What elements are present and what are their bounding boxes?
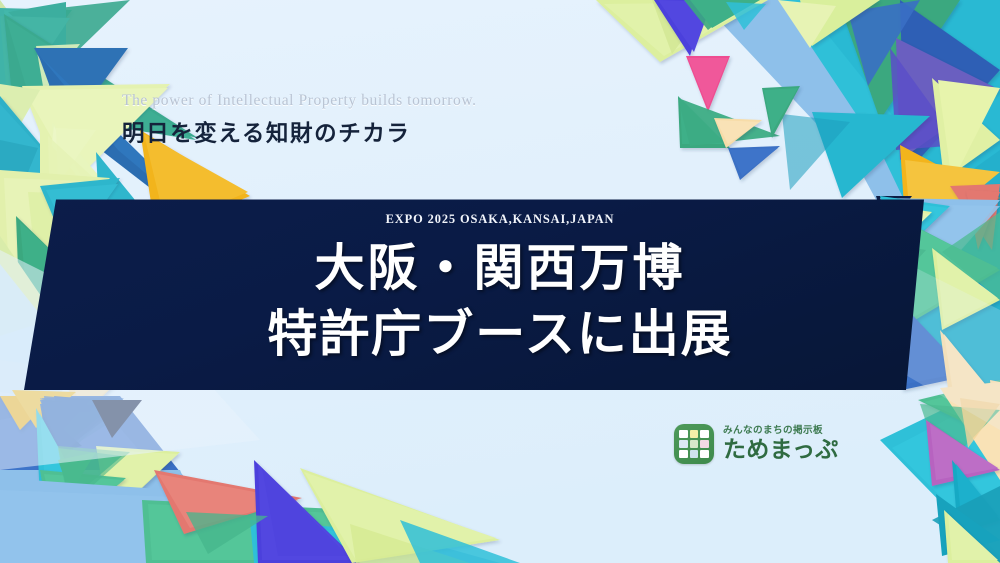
tamemap-logo[interactable]: みんなのまちの掲示板 ためまっぷ bbox=[674, 424, 839, 464]
tagline-english: The power of Intellectual Property build… bbox=[122, 92, 477, 110]
banner-graphic: The power of Intellectual Property build… bbox=[0, 0, 1000, 563]
tile-6 bbox=[700, 440, 709, 448]
headline-banner: EXPO 2025 OSAKA,KANSAI,JAPAN 大阪・関西万博 特許庁… bbox=[0, 190, 1000, 405]
tile-1 bbox=[679, 430, 688, 438]
tagline-block: The power of Intellectual Property build… bbox=[122, 92, 477, 148]
tile-4 bbox=[679, 440, 688, 448]
tile-8 bbox=[690, 450, 699, 458]
tile-7 bbox=[679, 450, 688, 458]
logo-name: ためまっぷ bbox=[723, 439, 839, 462]
banner-shape bbox=[0, 190, 1000, 405]
logo-subtitle: みんなのまちの掲示板 bbox=[723, 426, 839, 436]
tile-9 bbox=[700, 450, 709, 458]
tile-2 bbox=[690, 430, 699, 438]
bulletin-board-icon bbox=[674, 424, 714, 464]
tagline-japanese: 明日を変える知財のチカラ bbox=[122, 116, 477, 148]
tile-5 bbox=[690, 440, 699, 448]
logo-wordmark: みんなのまちの掲示板 ためまっぷ bbox=[723, 426, 839, 463]
tile-3 bbox=[700, 430, 709, 438]
